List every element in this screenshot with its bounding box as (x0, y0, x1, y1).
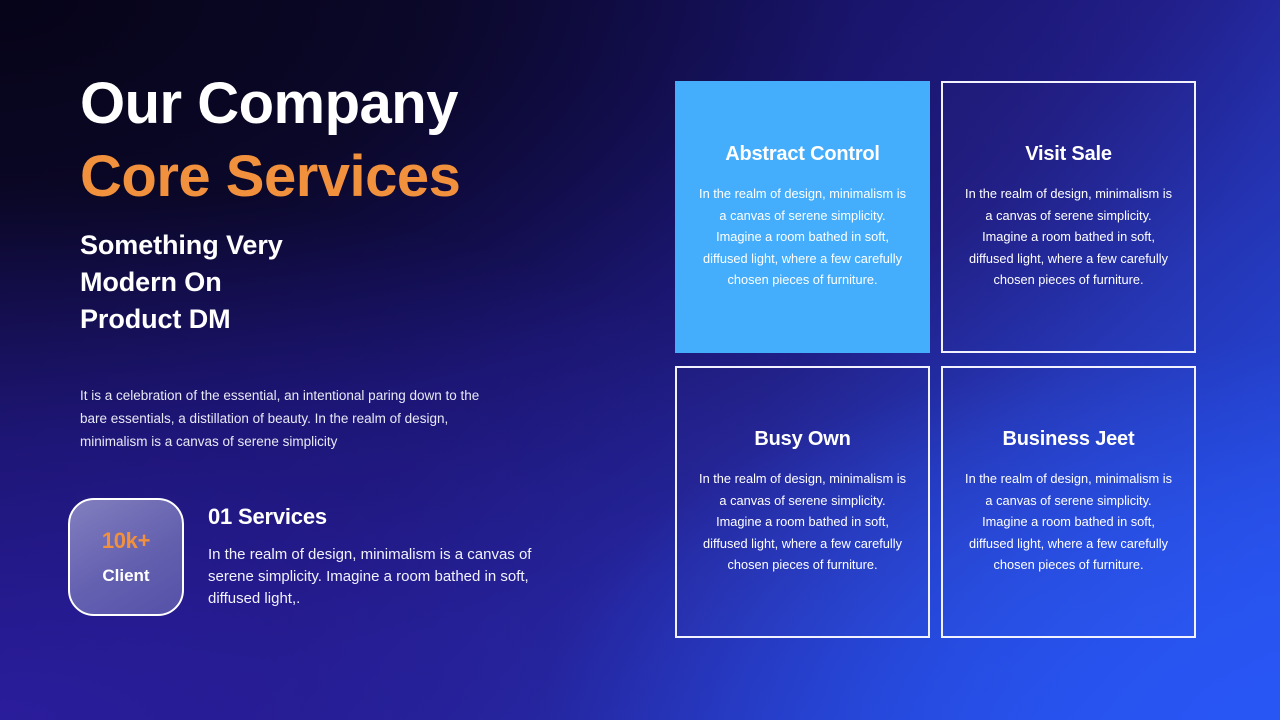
service-summary-description: In the realm of design, minimalism is a … (208, 544, 542, 611)
services-card-grid: Abstract Control In the realm of design,… (675, 81, 1196, 638)
presentation-slide: Our Company Core Services Something Very… (0, 0, 1280, 720)
service-card-title: Business Jeet (1003, 428, 1135, 451)
headline-line-primary: Our Company (80, 68, 600, 141)
service-card-title: Busy Own (754, 428, 850, 451)
left-content-panel: Our Company Core Services Something Very… (80, 68, 600, 454)
service-card-body: In the realm of design, minimalism is a … (961, 468, 1176, 576)
subheading-line-3: Product DM (80, 301, 600, 338)
service-card-body: In the realm of design, minimalism is a … (695, 468, 910, 576)
subheading-line-2: Modern On (80, 264, 600, 301)
intro-paragraph: It is a celebration of the essential, an… (80, 384, 500, 454)
client-count-label: Client (102, 566, 149, 586)
service-card-visit-sale[interactable]: Visit Sale In the realm of design, minim… (941, 81, 1196, 353)
service-summary-title: 01 Services (208, 504, 542, 530)
client-count-value: 10k+ (102, 528, 150, 554)
service-card-business-jeet[interactable]: Business Jeet In the realm of design, mi… (941, 366, 1196, 638)
headline-line-accent: Core Services (80, 141, 600, 214)
page-title: Our Company Core Services (80, 68, 600, 213)
service-summary-block: 10k+ Client 01 Services In the realm of … (68, 498, 542, 616)
service-card-title: Visit Sale (1025, 143, 1112, 166)
service-card-title: Abstract Control (725, 143, 880, 166)
service-card-body: In the realm of design, minimalism is a … (695, 183, 910, 291)
service-card-abstract-control[interactable]: Abstract Control In the realm of design,… (675, 81, 930, 353)
subheading-line-1: Something Very (80, 227, 600, 264)
service-card-body: In the realm of design, minimalism is a … (961, 183, 1176, 291)
service-card-busy-own[interactable]: Busy Own In the realm of design, minimal… (675, 366, 930, 638)
slide-content: Our Company Core Services Something Very… (0, 0, 1280, 720)
subheading: Something Very Modern On Product DM (80, 227, 600, 338)
service-summary-copy: 01 Services In the realm of design, mini… (208, 498, 542, 611)
client-stat-badge: 10k+ Client (68, 498, 184, 616)
